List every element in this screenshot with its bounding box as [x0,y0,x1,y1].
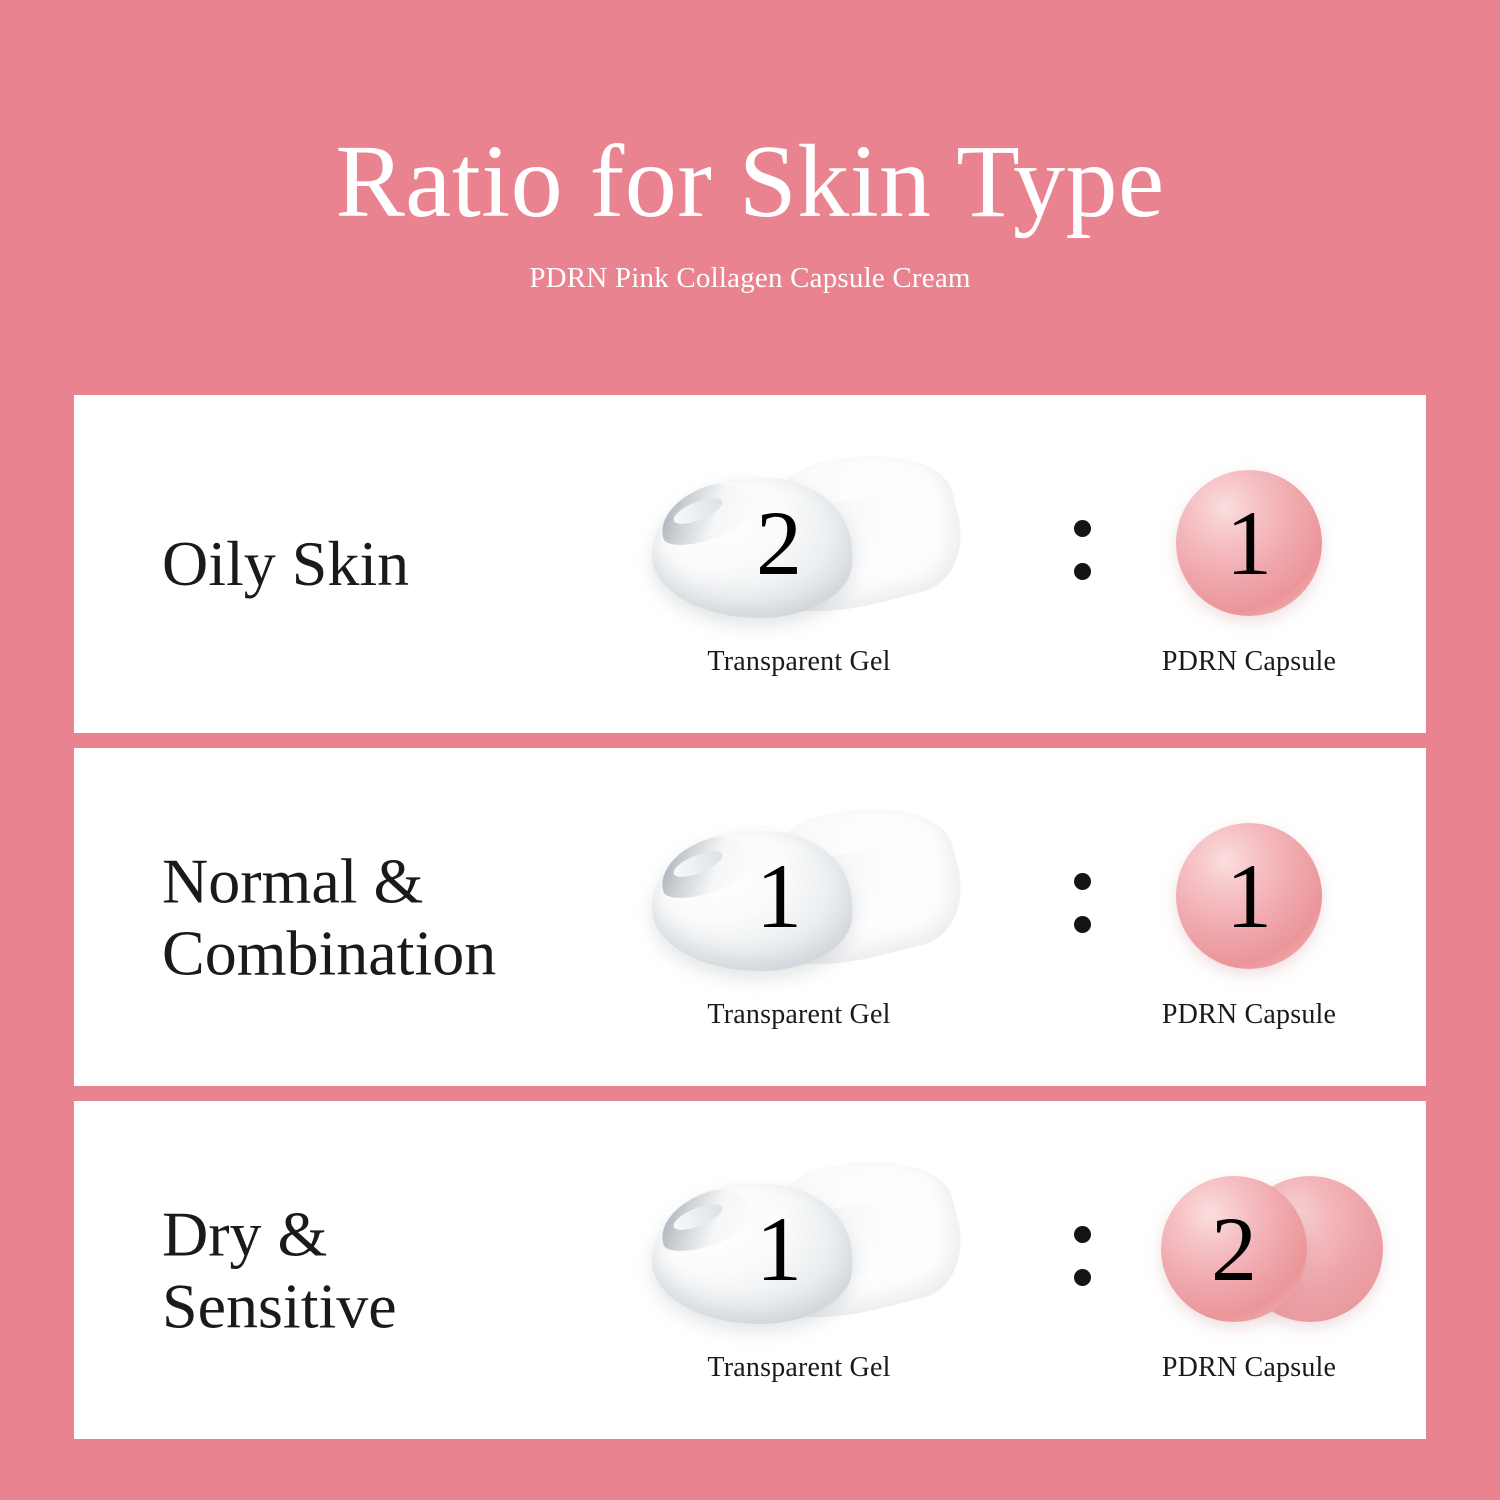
capsule-side: 2 PDRN Capsule [1084,1157,1414,1384]
colon-dot-lower-icon [1074,916,1091,933]
ratio-group: 1 Transparent Gel 2 PDRN Capsule [634,1101,1424,1439]
gel-ratio-value: 1 [599,804,959,989]
gel-visual: 1 [639,804,959,989]
page-subtitle: PDRN Pink Collagen Capsule Cream [0,234,1500,295]
colon-dot-lower-icon [1074,563,1091,580]
colon-dot-lower-icon [1074,1269,1091,1286]
capsule-ratio-value: 2 [1161,1162,1307,1337]
page-header: Ratio for Skin Type PDRN Pink Collagen C… [0,0,1500,380]
capsule-caption: PDRN Capsule [1162,999,1336,1031]
page-title: Ratio for Skin Type [0,0,1500,234]
capsule-visual: 1 [1089,451,1409,636]
gel-ratio-value: 1 [599,1157,959,1342]
capsule-caption: PDRN Capsule [1162,646,1336,678]
gel-visual: 2 [639,451,959,636]
gel-visual: 1 [639,1157,959,1342]
ratio-card-dry-sensitive: Dry & Sensitive 1 Transparent Gel [74,1101,1426,1439]
capsule-side: 1 PDRN Capsule [1084,804,1414,1031]
gel-side: 2 Transparent Gel [634,451,964,678]
ratio-card-list: Oily Skin 2 Transparent Gel [74,395,1426,1454]
gel-side: 1 Transparent Gel [634,1157,964,1384]
ratio-separator [1074,520,1091,580]
capsule-side: 1 PDRN Capsule [1084,451,1414,678]
pdrn-capsule-icon: 2 [1099,1162,1399,1337]
gel-ratio-value: 2 [599,451,959,636]
capsule-ratio-value: 1 [1176,809,1322,984]
capsule-visual: 1 [1089,804,1409,989]
skin-type-label: Dry & Sensitive [162,1198,397,1341]
skin-type-label: Oily Skin [162,528,409,600]
gel-caption: Transparent Gel [707,646,890,678]
skin-type-label: Normal & Combination [162,845,496,988]
capsule-caption: PDRN Capsule [1162,1352,1336,1384]
ratio-separator [1074,1226,1091,1286]
gel-caption: Transparent Gel [707,999,890,1031]
ratio-group: 1 Transparent Gel 1 PDRN Capsule [634,748,1424,1086]
ratio-card-oily-skin: Oily Skin 2 Transparent Gel [74,395,1426,733]
capsule-visual: 2 [1089,1157,1409,1342]
pdrn-capsule-icon: 1 [1099,456,1399,631]
gel-side: 1 Transparent Gel [634,804,964,1031]
ratio-separator [1074,873,1091,933]
ratio-card-normal-combination: Normal & Combination 1 Transparent Gel [74,748,1426,1086]
colon-dot-upper-icon [1074,520,1091,537]
capsule-ratio-value: 1 [1176,456,1322,631]
colon-dot-upper-icon [1074,873,1091,890]
ratio-group: 2 Transparent Gel 1 PDRN Capsule [634,395,1424,733]
gel-caption: Transparent Gel [707,1352,890,1384]
pdrn-capsule-icon: 1 [1099,809,1399,984]
colon-dot-upper-icon [1074,1226,1091,1243]
